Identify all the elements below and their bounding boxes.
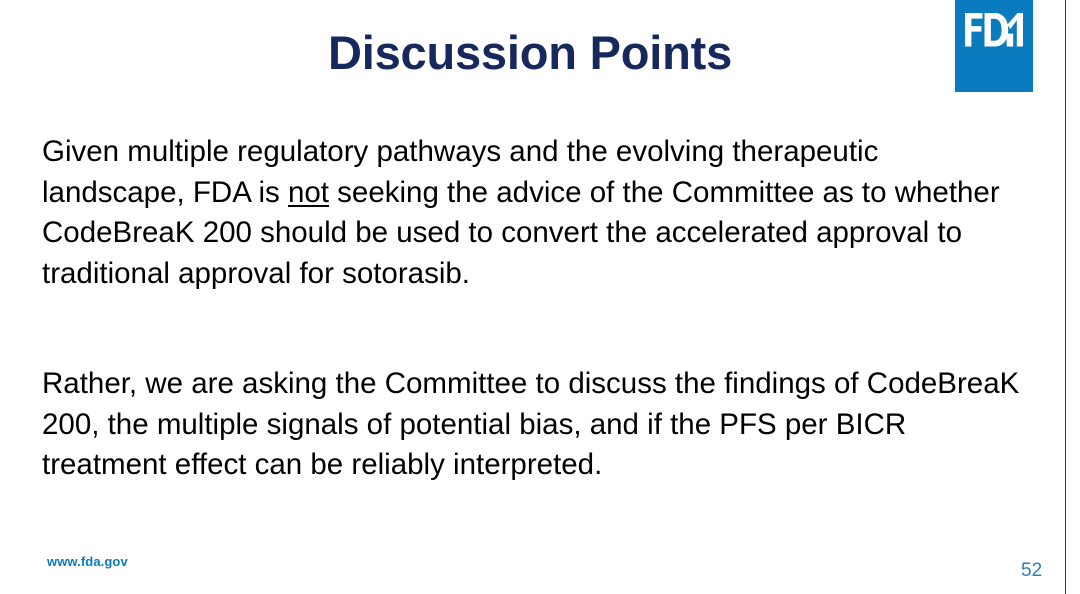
- slide-page-number: 52: [1021, 560, 1042, 582]
- presentation-slide: Discussion Points Given multiple regulat…: [0, 0, 1080, 594]
- slide-body: Given multiple regulatory pathways and t…: [42, 132, 1027, 486]
- page-title: Discussion Points: [0, 26, 1080, 80]
- paragraph-2: Rather, we are asking the Committee to d…: [42, 364, 1027, 486]
- paragraph-spacer: [42, 294, 1027, 364]
- footer-website-url[interactable]: www.fda.gov: [47, 554, 128, 569]
- slide-right-border: [1065, 0, 1066, 594]
- paragraph-1-emphasis-not: not: [288, 176, 329, 209]
- paragraph-1: Given multiple regulatory pathways and t…: [42, 132, 1027, 294]
